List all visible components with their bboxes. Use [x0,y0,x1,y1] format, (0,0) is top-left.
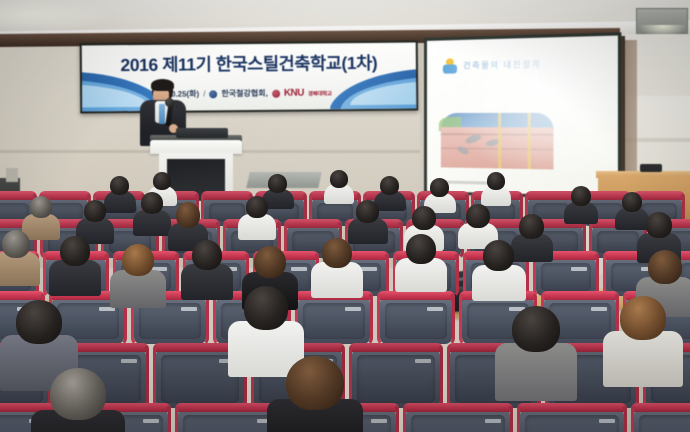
auditorium-seat [406,408,510,432]
audience-member-head [487,172,505,190]
audience-member-head [519,214,544,239]
auditorium-seat [352,348,440,408]
audience-member-head [648,250,682,284]
audience-member-head [122,244,154,276]
auditorium-seat [536,256,596,296]
audience-member-head [268,174,287,193]
audience-member-head [141,192,163,214]
audience-member-head [466,204,490,228]
audience-member-head [322,238,352,268]
audience-member-head [380,176,399,195]
audience-member-head [571,186,591,206]
audience-member-head [244,286,288,330]
audience-member-head [483,240,514,271]
audience-member-head [286,356,344,410]
audience-member-head [2,230,30,258]
audience-member-head [406,234,436,264]
audience-member-head [622,192,642,212]
audience-member-head [16,300,62,344]
audience-member-head [176,202,200,228]
audience-member-head [620,296,666,340]
auditorium-seat [298,296,370,344]
auditorium-seat [634,408,690,432]
audience-member-head [84,200,106,222]
audience-member-head [356,200,379,223]
audience-member-head [60,236,90,266]
audience-member-head [153,172,171,190]
auditorium-seat [520,408,624,432]
audience-member-head [646,212,672,238]
audience-member-head [430,178,449,197]
seminar-room-photo: 2016 제11기 한국스틸건축학교(1차) 10.25(화) / 한국철강협회… [0,0,690,432]
auditorium-seat [380,296,452,344]
audience-member-head [246,196,268,218]
audience-member-head [192,240,222,270]
audience-member-head [50,368,106,420]
audience-member-head [330,170,348,188]
audience-member-head [254,246,286,278]
audience-member-head [512,306,560,352]
audience-member-head [110,176,129,195]
audience-member-head [30,196,52,218]
audience-member-head [412,206,436,230]
